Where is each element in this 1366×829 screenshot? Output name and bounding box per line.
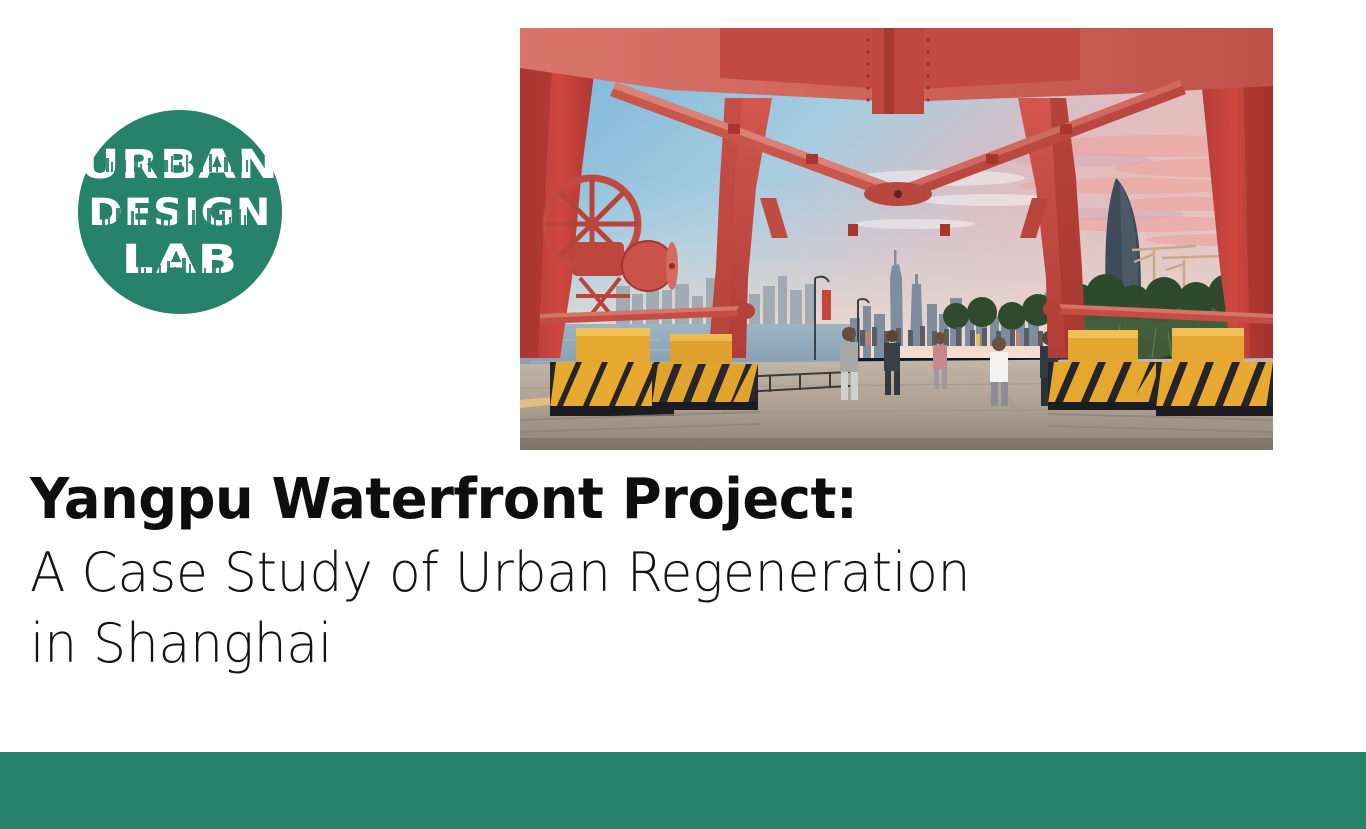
page-subtitle: A Case Study of Urban Regeneration in Sh… (30, 538, 1249, 678)
logo-line-design: DESIGN (88, 194, 271, 231)
hero-photo-illustration (520, 28, 1273, 450)
subtitle-line-2: in Shanghai (30, 609, 1249, 679)
logo-line-lab: LAB (122, 240, 239, 280)
subtitle-line-1: A Case Study of Urban Regeneration (30, 538, 1249, 608)
hero-photo-yangpu-waterfront (520, 28, 1273, 450)
footer-accent-bar (0, 752, 1366, 829)
presentation-slide: URBAN DESIGN LAB (0, 0, 1366, 829)
page-title: Yangpu Waterfront Project: (30, 470, 1262, 530)
title-block: Yangpu Waterfront Project: A Case Study … (30, 470, 1300, 679)
urban-design-lab-logo: URBAN DESIGN LAB (78, 110, 282, 314)
logo-line-urban: URBAN (80, 145, 279, 185)
